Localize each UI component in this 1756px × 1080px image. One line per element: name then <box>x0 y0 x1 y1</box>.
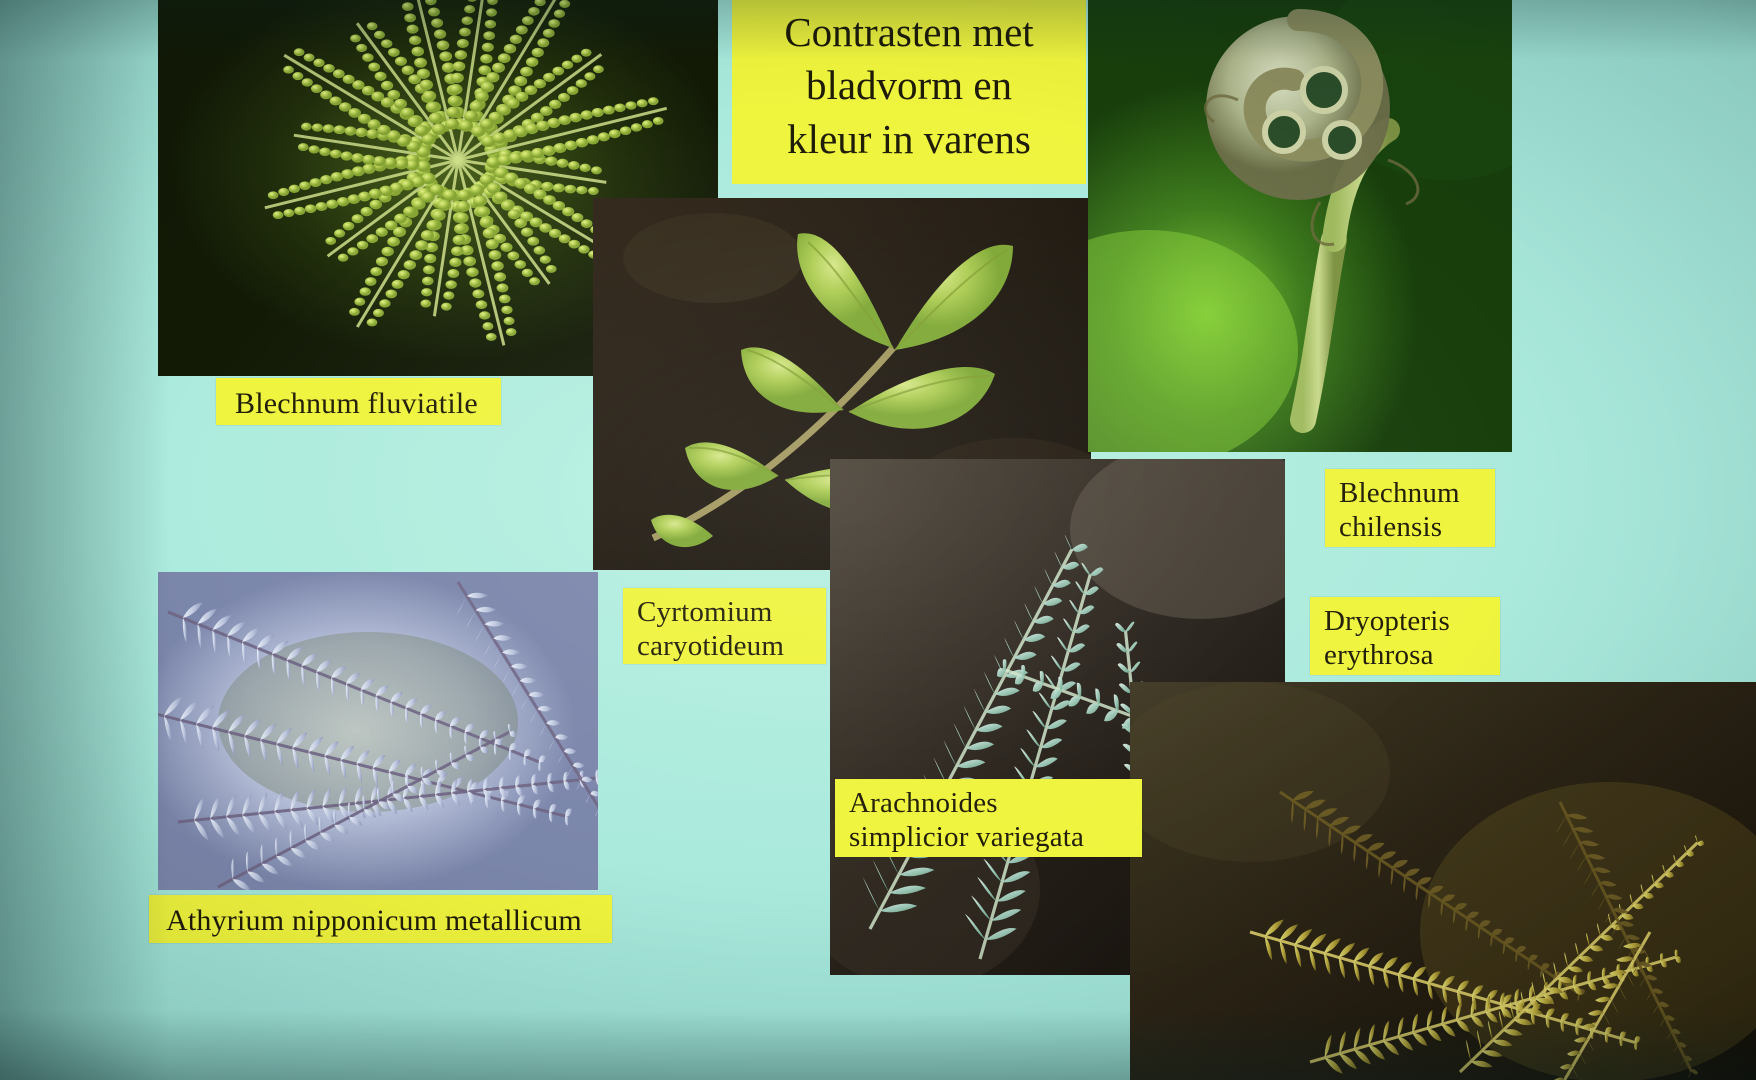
caption-arachnoides-line-1: Arachnoides <box>849 786 1142 820</box>
photo-golden-fern <box>1130 682 1756 1080</box>
caption-chilensis-line-2: chilensis <box>1339 510 1495 544</box>
caption-dryopteris-line-1: Dryopteris <box>1324 604 1500 638</box>
presentation-slide: Contrasten met bladvorm en kleur in vare… <box>0 0 1756 1080</box>
fern-crozier-illustration <box>1088 0 1512 452</box>
photo-athyrium-image <box>158 572 598 890</box>
caption-cyrtomium-line-2: caryotideum <box>637 629 826 663</box>
painted-fern-illustration <box>158 572 598 890</box>
slide-title-line-1: Contrasten met <box>784 6 1033 59</box>
photo-athyrium-nipponicum-metallicum <box>158 572 598 890</box>
caption-blechnum-chilensis: Blechnum chilensis <box>1325 469 1495 547</box>
caption-chilensis-line-1: Blechnum <box>1339 476 1495 510</box>
photo-blechnum-chilensis <box>1088 0 1512 452</box>
caption-cyrtomium-line-1: Cyrtomium <box>637 595 826 629</box>
slide-title-box: Contrasten met bladvorm en kleur in vare… <box>732 0 1086 184</box>
caption-blechnum-fluviatile: Blechnum fluviatile <box>216 378 501 425</box>
slide-title-line-2: bladvorm en <box>806 59 1012 112</box>
caption-dryopteris-line-2: erythrosa <box>1324 638 1500 672</box>
golden-fern-illustration <box>1130 682 1756 1080</box>
caption-dryopteris-erythrosa: Dryopteris erythrosa <box>1310 597 1500 675</box>
caption-arachnoides-simplicior-variegata: Arachnoides simplicior variegata <box>835 779 1142 857</box>
slide-title-line-3: kleur in varens <box>787 113 1031 166</box>
photo-blechnum-chilensis-image <box>1088 0 1512 452</box>
photo-golden-fern-image <box>1130 682 1756 1080</box>
caption-blechnum-fluviatile-line-1: Blechnum fluviatile <box>235 386 501 421</box>
caption-athyrium-line-1: Athyrium nipponicum metallicum <box>166 903 612 938</box>
projector-edge-shadow-left <box>0 0 170 1080</box>
caption-cyrtomium-caryotideum: Cyrtomium caryotideum <box>623 588 826 664</box>
caption-arachnoides-line-2: simplicior variegata <box>849 820 1142 854</box>
caption-athyrium-nipponicum-metallicum: Athyrium nipponicum metallicum <box>149 895 612 943</box>
